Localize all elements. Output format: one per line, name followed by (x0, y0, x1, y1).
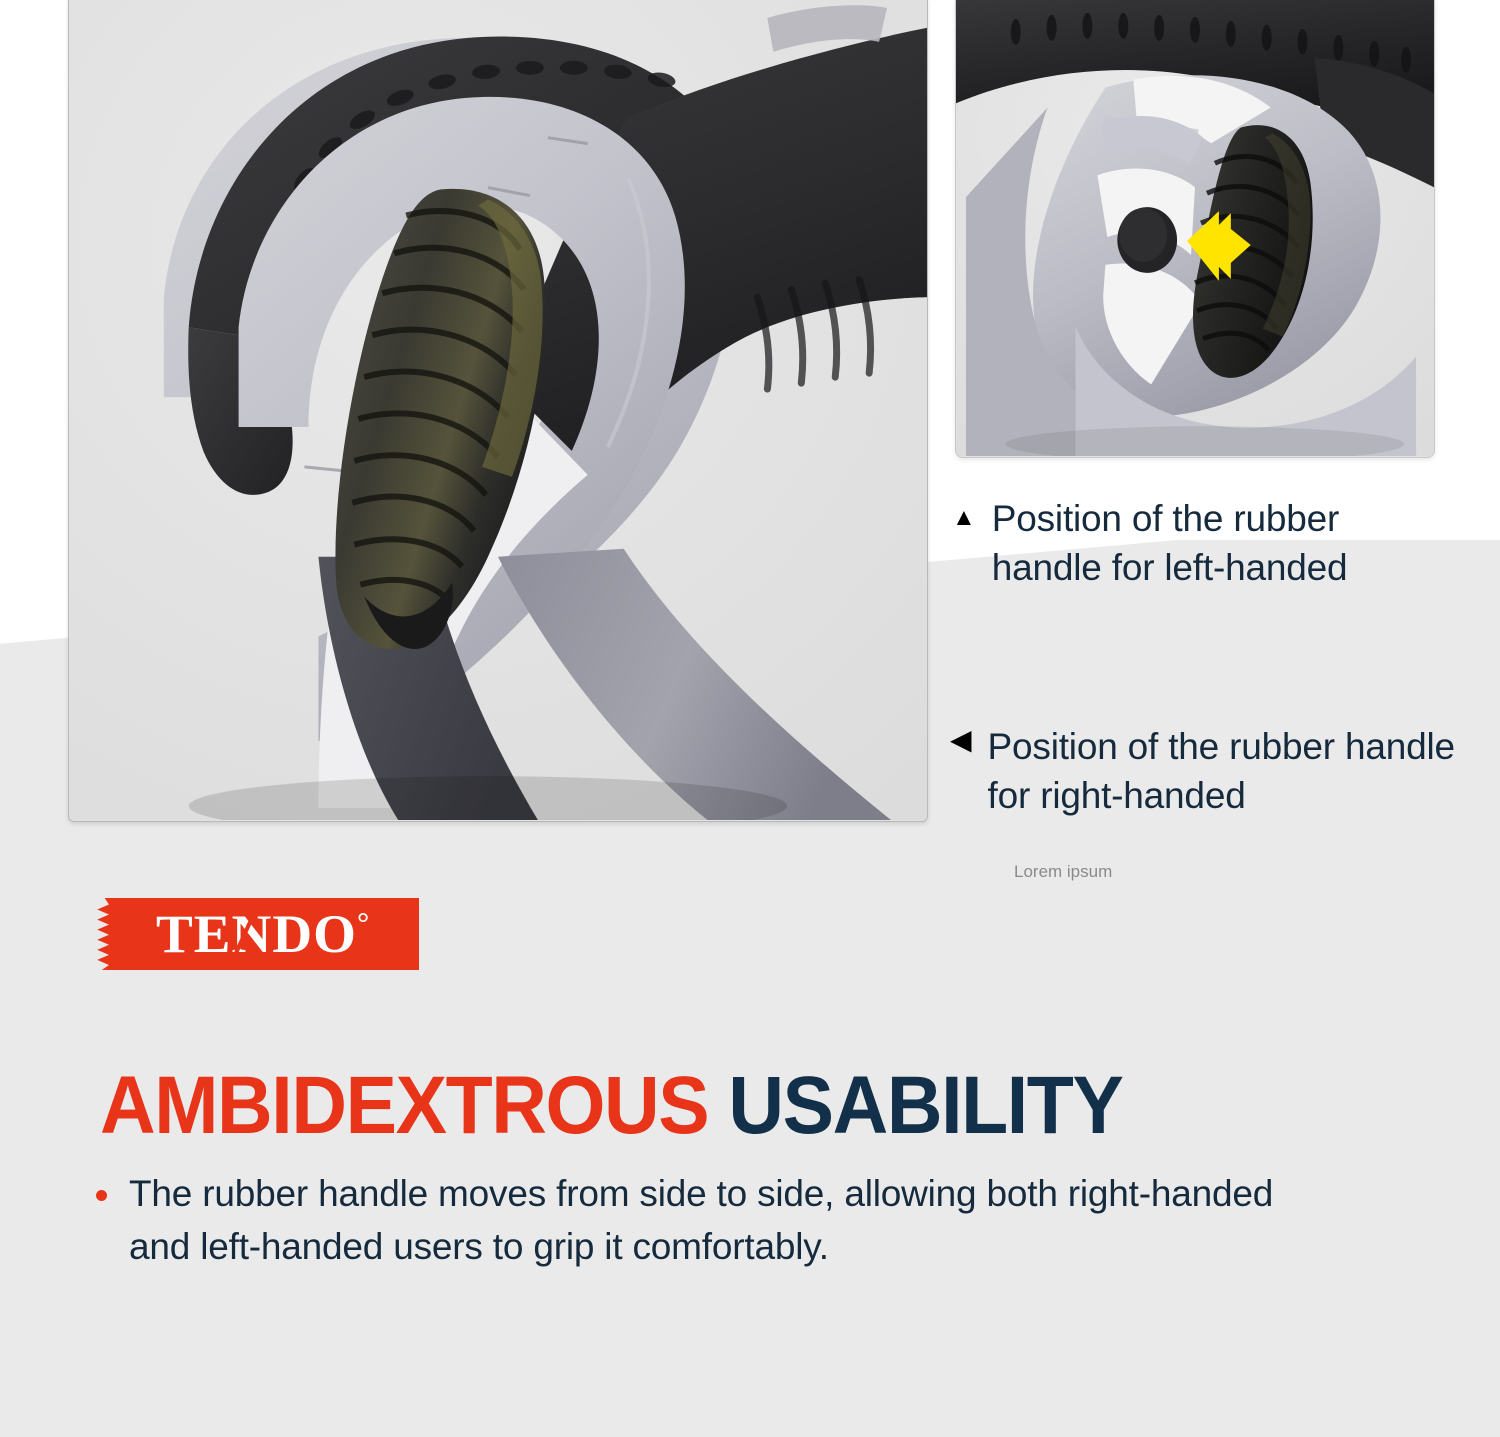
callout-right-handed-text: Position of the rubber handlefor right-h… (988, 722, 1455, 820)
main-product-image-panel (68, 0, 928, 822)
feature-bullet-text: The rubber handle moves from side to sid… (129, 1168, 1273, 1273)
tendo-logo-text: TENDO (157, 904, 358, 964)
callout-left-handed-text: Position of the rubber handle for left-h… (992, 494, 1348, 592)
tendo-logo: TENDO° (94, 898, 419, 970)
headline-word-usability: USABILITY (728, 1060, 1122, 1151)
callout-right-handed-line2: for right-handed (988, 775, 1246, 816)
inset-product-render-svg (956, 0, 1434, 456)
main-product-render-svg (69, 0, 927, 820)
lorem-ipsum-note: Lorem ipsum (1014, 862, 1112, 882)
page-title: AMBIDEXTROUS USABILITY (100, 1065, 1122, 1147)
triangle-left-marker: ◀ (950, 726, 972, 754)
triangle-up-marker: ▲ (952, 506, 976, 530)
headline-word-ambidextrous: AMBIDEXTROUS (100, 1060, 708, 1151)
callout-left-handed: ▲ Position of the rubber handle for left… (952, 494, 1500, 592)
product-feature-page: ▲ Position of the rubber handle for left… (0, 0, 1500, 1437)
bullet-dot-icon (96, 1190, 107, 1201)
inset-product-image-panel (955, 0, 1435, 458)
tendo-logo-degree: ° (357, 907, 370, 940)
callout-right-handed: ◀ Position of the rubber handlefor right… (950, 722, 1500, 820)
tendo-wordmark: TENDO° (142, 903, 371, 965)
feature-bullet-item: The rubber handle moves from side to sid… (96, 1168, 1326, 1273)
callout-right-handed-line1: Position of the rubber handle (988, 726, 1455, 767)
